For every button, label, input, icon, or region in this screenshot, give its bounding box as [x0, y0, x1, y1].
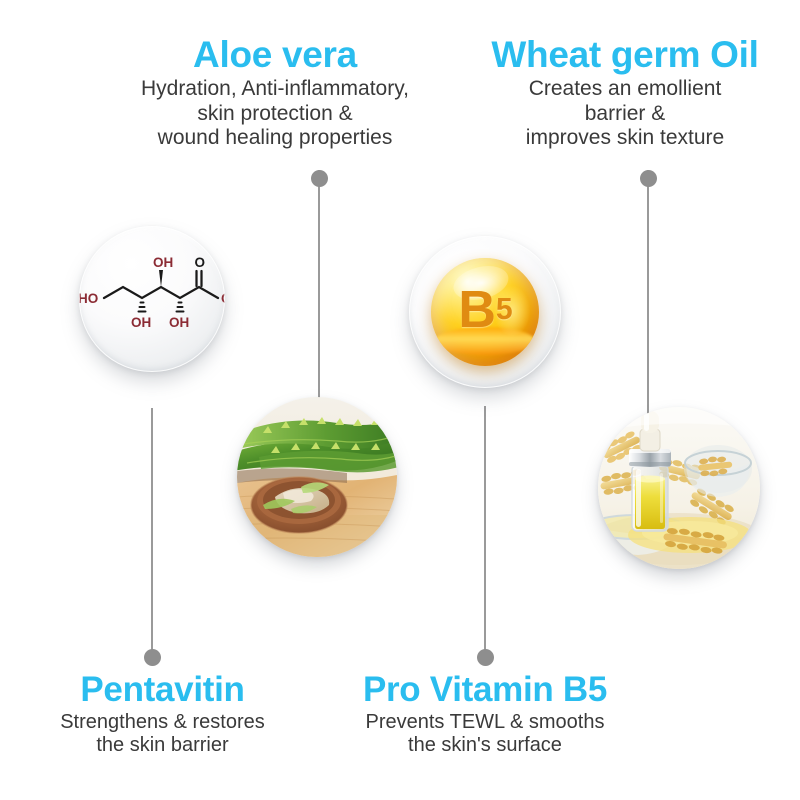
ingredient-title-aloe-vera: Aloe vera: [95, 36, 455, 74]
aloe-vera-photo: [237, 397, 397, 557]
ingredient-circle-aloe-vera[interactable]: [237, 397, 397, 557]
svg-text:HO: HO: [79, 291, 98, 306]
sugar-molecule-icon: HO OH OH OH OH O: [79, 252, 225, 344]
infographic-canvas: Aloe vera Hydration, Anti-inflammatory, …: [0, 0, 800, 800]
ingredient-description-aloe-vera: Hydration, Anti-inflammatory, skin prote…: [95, 77, 455, 151]
svg-text:OH: OH: [221, 291, 225, 306]
ingredient-description-wheat-germ-oil: Creates an emollient barrier & improves …: [455, 77, 795, 151]
ingredient-label-pro-vitamin-b5: Pro Vitamin B5 Prevents TEWL & smooths t…: [325, 672, 645, 758]
connector-line: [318, 170, 320, 402]
ingredient-description-pentavitin: Strengthens & restores the skin barrier: [20, 711, 305, 758]
ingredient-circle-pentavitin[interactable]: HO OH OH OH OH O: [79, 226, 225, 372]
capsule-highlight: [450, 260, 512, 305]
svg-text:OH: OH: [169, 315, 189, 330]
connector-dot: [477, 649, 494, 666]
ingredient-circle-pro-vitamin-b5[interactable]: B5: [409, 236, 561, 388]
connector-line: [647, 170, 649, 415]
ingredient-description-pro-vitamin-b5: Prevents TEWL & smooths the skin's surfa…: [325, 711, 645, 758]
capsule-superscript: 5: [496, 293, 512, 327]
b5-capsule-sphere: B5: [431, 258, 539, 366]
ingredient-label-pentavitin: Pentavitin Strengthens & restores the sk…: [20, 672, 305, 758]
connector-dot: [640, 170, 657, 187]
ingredient-title-pro-vitamin-b5: Pro Vitamin B5: [325, 672, 645, 708]
svg-text:O: O: [195, 255, 206, 270]
wheat-germ-oil-photo: [598, 407, 760, 569]
capsule-label: B5: [431, 258, 539, 366]
connector-dot: [311, 170, 328, 187]
ingredient-circle-wheat-germ-oil[interactable]: [598, 407, 760, 569]
connector-dot: [144, 649, 161, 666]
capsule-letter: B: [458, 280, 495, 340]
svg-text:OH: OH: [131, 315, 151, 330]
connector-line: [151, 408, 153, 658]
connector-line: [484, 406, 486, 658]
ingredient-label-wheat-germ-oil: Wheat germ Oil Creates an emollient barr…: [455, 36, 795, 151]
svg-text:OH: OH: [153, 255, 173, 270]
ingredient-title-wheat-germ-oil: Wheat germ Oil: [455, 36, 795, 74]
ingredient-title-pentavitin: Pentavitin: [20, 672, 305, 708]
ingredient-label-aloe-vera: Aloe vera Hydration, Anti-inflammatory, …: [95, 36, 455, 151]
capsule-glow: [494, 286, 531, 336]
capsule-reflection-band: [435, 327, 534, 355]
